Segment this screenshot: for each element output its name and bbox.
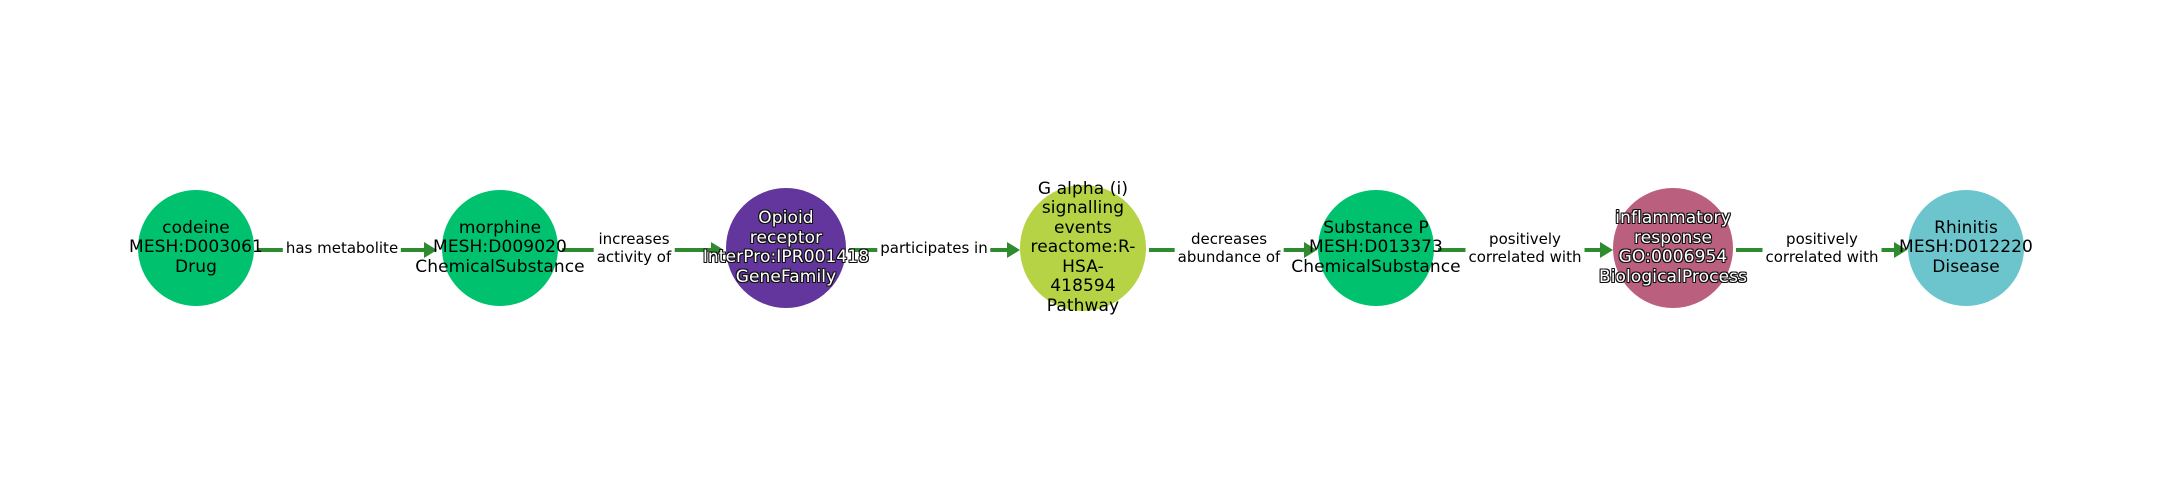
graph-node-opioid-receptor[interactable]: Opioid receptor InterPro:IPR001418 GeneF… [726,188,846,308]
graph-node-morphine[interactable]: morphine MESH:D009020 ChemicalSubstance [442,190,558,306]
edge-label: decreases abundance of [1175,230,1284,266]
edge-label: participates in [877,239,990,257]
edge-arrowhead-icon [1007,242,1020,258]
graph-node-label: inflammatory response GO:0006954 Biologi… [1599,209,1747,287]
graph-node-label: Rhinitis MESH:D012220 Disease [1899,219,2033,278]
edge-label: increases activity of [594,230,675,266]
graph-node-substance-p[interactable]: Substance P MESH:D013373 ChemicalSubstan… [1318,190,1434,306]
graph-node-rhinitis[interactable]: Rhinitis MESH:D012220 Disease [1908,190,2024,306]
graph-node-label: codeine MESH:D003061 Drug [129,219,263,278]
graph-node-label: morphine MESH:D009020 ChemicalSubstance [415,219,584,278]
graph-node-label: Substance P MESH:D013373 ChemicalSubstan… [1291,219,1460,278]
graph-node-codeine[interactable]: codeine MESH:D003061 Drug [138,190,254,306]
graph-node-g-alpha-i-signalling-events[interactable]: G alpha (i) signalling events reactome:R… [1020,185,1146,311]
graph-node-label: Opioid receptor InterPro:IPR001418 GeneF… [703,209,869,287]
graph-node-inflammatory-response[interactable]: inflammatory response GO:0006954 Biologi… [1613,188,1733,308]
edge-label: positively correlated with [1466,230,1585,266]
edge-label: has metabolite [283,239,401,257]
edge-label: positively correlated with [1763,230,1882,266]
knowledge-graph-canvas: has metaboliteincreases activity ofparti… [0,0,2160,500]
graph-node-label: G alpha (i) signalling events reactome:R… [1020,180,1146,317]
